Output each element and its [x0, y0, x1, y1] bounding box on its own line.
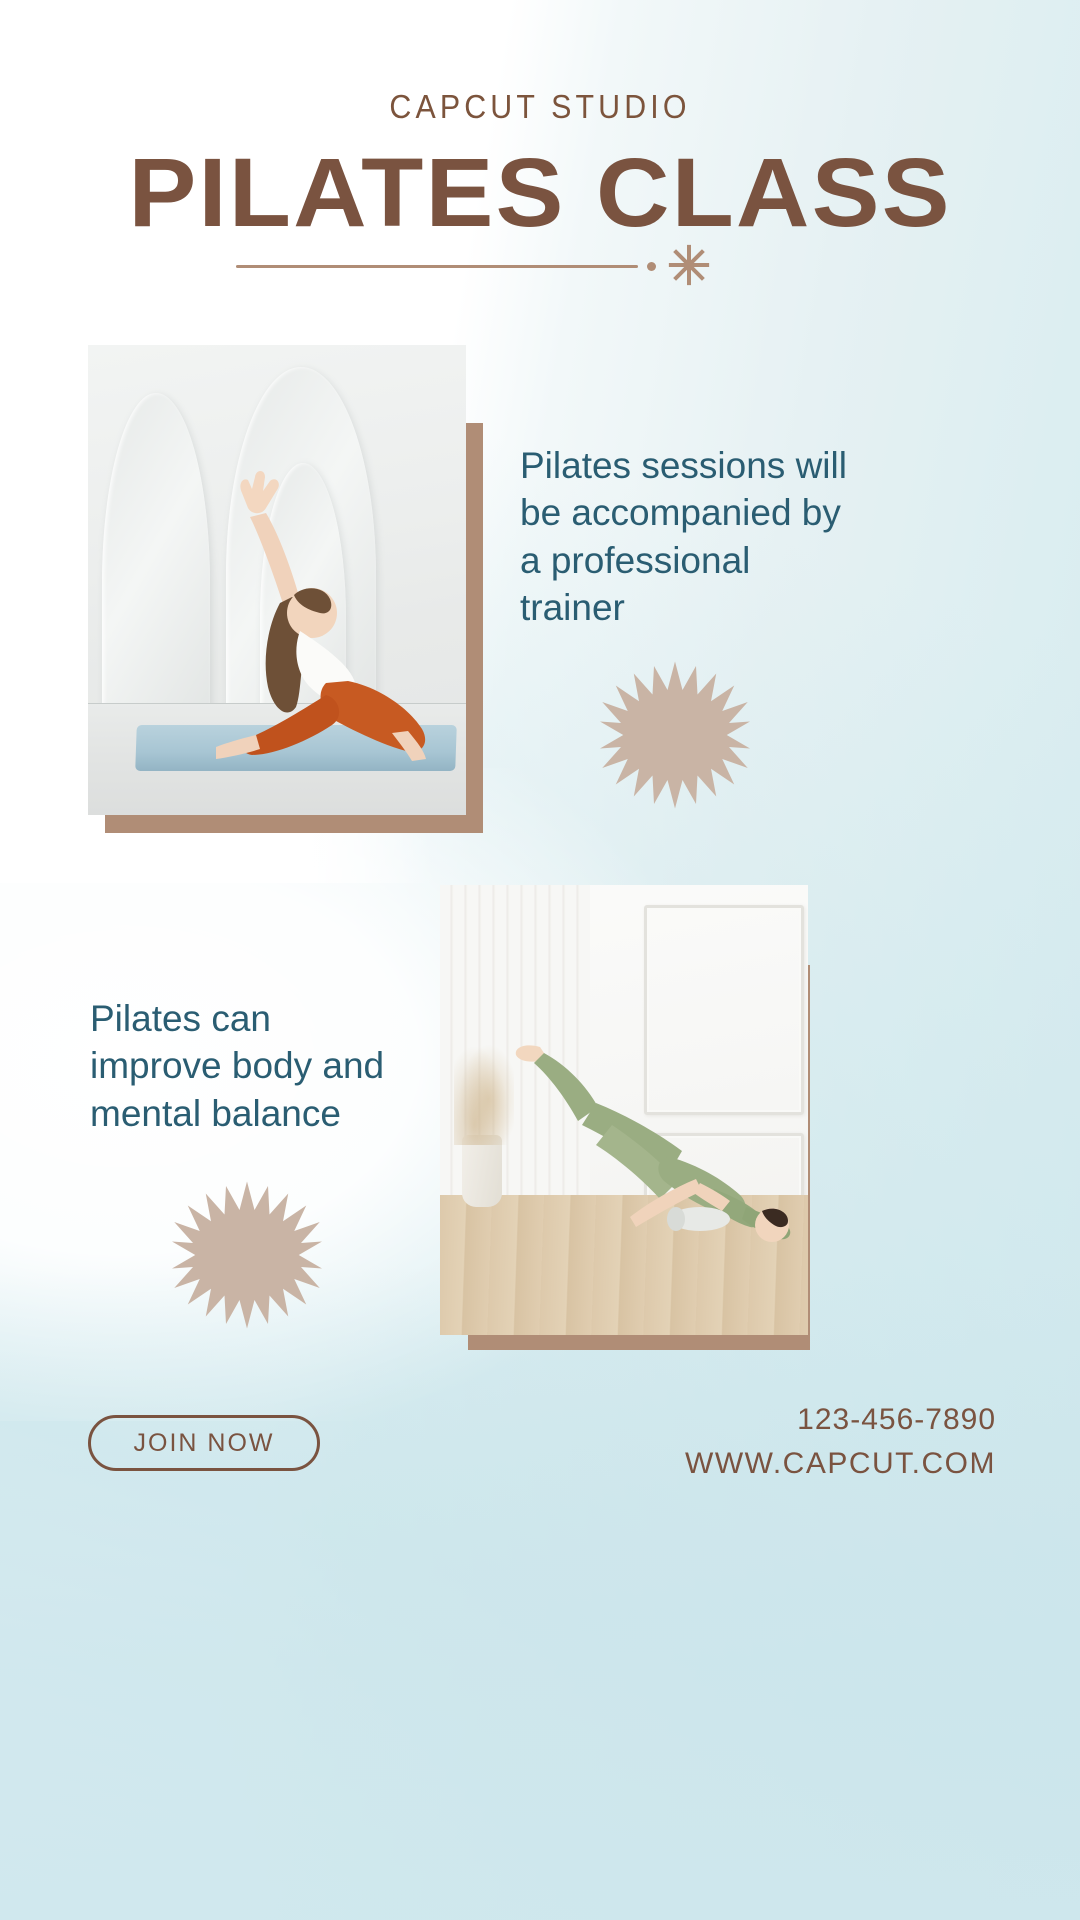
studio-name: CAPCUT STUDIO: [43, 88, 1037, 126]
dot-icon: [647, 262, 656, 271]
poster-header: CAPCUT STUDIO PILATES CLASS: [0, 0, 1080, 241]
background-teal-bottom: [0, 1267, 1080, 1920]
person-bridge-pose-figure: [500, 1029, 800, 1249]
person-stretching-figure: [208, 463, 438, 763]
photo-pilates-bridge: [440, 885, 808, 1335]
starburst-icon: [600, 660, 750, 810]
vase: [462, 1135, 502, 1207]
caption-text-2: Pilates can improve body and mental bala…: [90, 995, 410, 1137]
phone-number[interactable]: 123-456-7890: [685, 1398, 996, 1442]
website-url[interactable]: WWW.CAPCUT.COM: [685, 1442, 996, 1486]
starburst-icon: [172, 1180, 322, 1330]
studio-scene-1: [88, 345, 466, 815]
page-title: PILATES CLASS: [0, 144, 1080, 241]
studio-scene-2: [440, 885, 808, 1335]
join-now-button[interactable]: JOIN NOW: [88, 1415, 320, 1471]
divider-line: [236, 265, 638, 268]
caption-text-1: Pilates sessions will be accompanied by …: [520, 442, 850, 631]
asterisk-star-icon: [666, 242, 712, 288]
contact-info: 123-456-7890 WWW.CAPCUT.COM: [685, 1398, 996, 1485]
arch-decor: [102, 393, 210, 723]
header-divider: [236, 246, 656, 286]
photo-pilates-stretch: [88, 345, 466, 815]
